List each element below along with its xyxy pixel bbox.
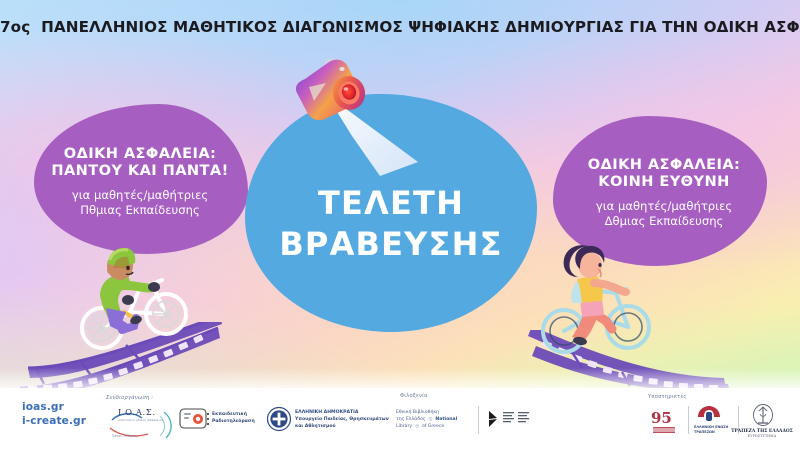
center-headline: ΤΕΛΕΤΗ ΒΡΑΒΕΥΣΗΣ [245, 183, 537, 265]
right-blob-heading-line1: ΟΔΙΚΗ ΑΣΦΑΛΕΙΑ: [555, 156, 773, 173]
hellenic-republic-label: ΕΛΛΗΝΙΚΗ ΔΗΜΟΚΡΑΤΙΑ Υπουργείο Παιδείας, … [295, 410, 389, 431]
right-blob-sub-line1: για μαθητές/μαθήτριες [555, 199, 773, 214]
website-links[interactable]: ioas.gr i-create.gr [22, 400, 86, 429]
ioas-logo-caption: Πάνος Μυλωνάς [112, 434, 138, 438]
supporters-label: Υποστηρικτές [648, 394, 687, 400]
coorganization-label: Συνδιοργάνωση : [106, 395, 153, 401]
right-blob-text: ΟΔΙΚΗ ΑΣΦΑΛΕΙΑ: ΚΟΙΝΗ ΕΥΘΥΝΗ για μαθητές… [555, 156, 773, 229]
educational-radiotelevision-label: Εκπαιδευτική Ραδιοτηλεόραση [212, 412, 255, 426]
svg-text:95: 95 [651, 409, 672, 427]
hosting-label: Φιλοξενία [400, 393, 428, 399]
title-ordinal: 7ος [0, 18, 30, 36]
poster-title: 7ος ΠΑΝΕΛΛΗΝΙΟΣ ΜΑΘΗΤΙΚΟΣ ΔΙΑΓΩΝΙΣΜΟΣ ΨΗ… [0, 18, 800, 36]
library-divider-icon-2: ◎ [414, 424, 421, 429]
left-blob-text: ΟΔΙΚΗ ΑΣΦΑΛΕΙΑ: ΠΑΝΤΟΥ ΚΑΙ ΠΑΝΤΑ! για μα… [30, 145, 250, 218]
hellenic-republic-emblem-icon[interactable] [266, 406, 292, 432]
footer-divider-2 [688, 406, 689, 434]
left-blob-heading-line2: ΠΑΝΤΟΥ ΚΑΙ ΠΑΝΤΑ! [30, 162, 250, 179]
national-library-label: Εθνική Βιβλιοθήκη της Ελλάδος ◎ National… [396, 410, 457, 431]
center-headline-line1: ΤΕΛΕΤΗ [245, 183, 537, 224]
left-blob-sub-line2: Πθμιας Εκπαίδευσης [30, 203, 250, 218]
girl-on-bicycle-icon [528, 245, 654, 363]
boy-on-bicycle-icon [66, 240, 190, 358]
partner-mark-logo[interactable] [486, 408, 532, 430]
hellenic-bank-association-label: ΕΛΛΗΝΙΚΗ ΕΝΩΣΗ ΤΡΑΠΕΖΩΝ [694, 425, 728, 435]
footer-bar: ioas.gr i-create.gr Συνδιοργάνωση : Ι.Ο.… [0, 388, 800, 450]
ioas-logo-text: Ι.Ο.Α.Σ. ινστιτούτο οδικής ασφάλειας [118, 407, 164, 422]
left-blob-sub-line1: για μαθητές/μαθήτριες [30, 188, 250, 203]
educational-radiotelevision-icon[interactable] [178, 406, 212, 432]
hellenic-bank-association-icon[interactable] [694, 405, 724, 423]
poster-canvas: 7ος ΠΑΝΕΛΛΗΝΙΟΣ ΜΑΘΗΤΙΚΟΣ ΔΙΑΓΩΝΙΣΜΟΣ ΨΗ… [0, 0, 800, 450]
bank-of-greece-icon[interactable] [752, 404, 774, 428]
title-main: ΠΑΝΕΛΛΗΝΙΟΣ ΜΑΘΗΤΙΚΟΣ ΔΙΑΓΩΝΙΣΜΟΣ ΨΗΦΙΑΚ… [41, 18, 800, 36]
footer-divider-1 [478, 406, 479, 434]
library-divider-icon: ◎ [427, 417, 434, 422]
website-ioas[interactable]: ioas.gr [22, 400, 86, 414]
projector-icon [285, 57, 395, 142]
anniversary-95-logo[interactable]: 95 [650, 406, 682, 436]
right-blob-heading-line2: ΚΟΙΝΗ ΕΥΘΥΝΗ [555, 173, 773, 190]
right-blob-sub-line2: Δθμιας Εκπαίδευσης [555, 214, 773, 229]
center-headline-line2: ΒΡΑΒΕΥΣΗΣ [245, 224, 537, 265]
website-icreate[interactable]: i-create.gr [22, 414, 86, 428]
left-blob-heading-line1: ΟΔΙΚΗ ΑΣΦΑΛΕΙΑ: [30, 145, 250, 162]
bank-of-greece-label: ΤΡΑΠΕΖΑ ΤΗΣ ΕΛΛΑΔΟΣ ΕΥΡΩΣΥΣΤΗΜΑ [726, 429, 798, 438]
